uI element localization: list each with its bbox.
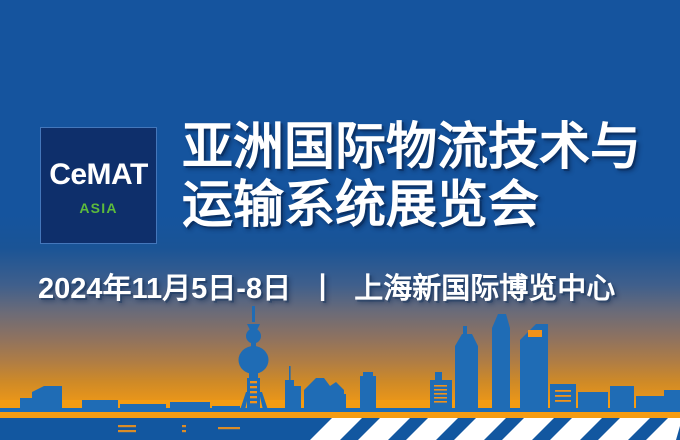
event-title-line-2: 运输系统展览会 [182, 176, 662, 234]
cemat-asia-logo: CeMAT ASIA [40, 127, 157, 244]
diagonal-hazard-stripes [0, 418, 680, 440]
event-meta-line: 2024年11月5日-8日 丨 上海新国际博览中心 [38, 272, 658, 306]
logo-region-text: ASIA [79, 201, 117, 215]
shanghai-skyline-silhouette [0, 300, 680, 425]
meta-separator: 丨 [299, 272, 346, 306]
event-date: 2024年11月5日-8日 [38, 273, 291, 305]
event-title-line-1: 亚洲国际物流技术与 [182, 118, 662, 176]
cemat-asia-banner: CeMAT ASIA 亚洲国际物流技术与 运输系统展览会 2024年11月5日-… [0, 0, 680, 440]
event-title: 亚洲国际物流技术与 运输系统展览会 [182, 118, 662, 234]
event-venue: 上海新国际博览中心 [354, 273, 615, 305]
logo-brand-text: CeMAT [49, 160, 148, 190]
